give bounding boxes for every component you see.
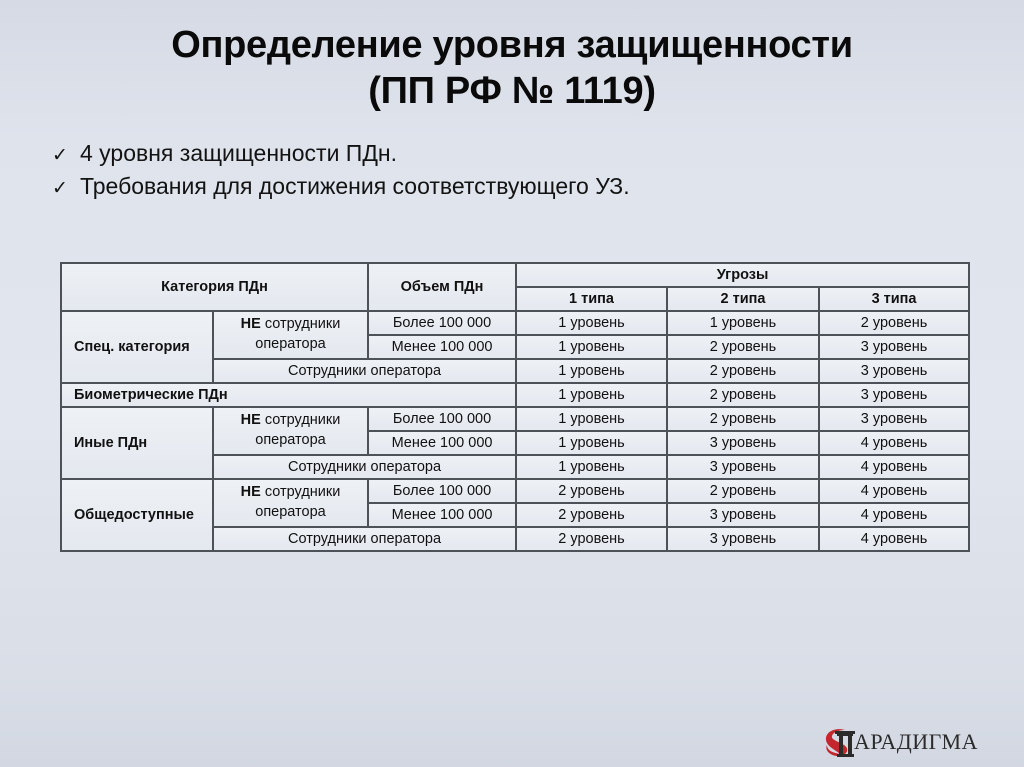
level-cell: 1 уровень: [516, 407, 667, 431]
level-cell: 3 уровень: [667, 527, 819, 551]
volume-less: Менее 100 000: [368, 335, 516, 359]
level-cell: 1 уровень: [667, 311, 819, 335]
volume-more: Более 100 000: [368, 311, 516, 335]
level-cell: 2 уровень: [667, 383, 819, 407]
subject-not-employees: НЕ сотрудники оператора: [213, 311, 368, 359]
level-cell: 4 уровень: [819, 431, 969, 455]
header-threat-type-2: 2 типа: [667, 287, 819, 311]
category-other: Иные ПДн: [61, 407, 213, 479]
list-item: ✓ Требования для достижения соответствую…: [52, 170, 1024, 203]
level-cell: 3 уровень: [667, 503, 819, 527]
volume-less: Менее 100 000: [368, 431, 516, 455]
level-cell: 1 уровень: [516, 311, 667, 335]
bullet-list: ✓ 4 уровня защищенности ПДн. ✓ Требовани…: [52, 137, 1024, 203]
volume-more: Более 100 000: [368, 479, 516, 503]
level-cell: 1 уровень: [516, 455, 667, 479]
level-cell: 3 уровень: [819, 335, 969, 359]
paradigma-gate-icon: [823, 726, 857, 758]
list-item: ✓ 4 уровня защищенности ПДн.: [52, 137, 1024, 170]
table-row: Иные ПДн НЕ сотрудники оператора Более 1…: [61, 407, 969, 431]
category-special: Спец. категория: [61, 311, 213, 383]
level-cell: 1 уровень: [516, 431, 667, 455]
level-cell: 3 уровень: [819, 359, 969, 383]
header-category: Категория ПДн: [61, 263, 368, 311]
level-cell: 2 уровень: [667, 479, 819, 503]
level-cell: 2 уровень: [516, 479, 667, 503]
title-line-2: (ПП РФ № 1119): [0, 68, 1024, 114]
level-cell: 2 уровень: [819, 311, 969, 335]
subject-not-employees: НЕ сотрудники оператора: [213, 407, 368, 455]
level-cell: 2 уровень: [667, 407, 819, 431]
not-employees-bold: НЕ: [241, 316, 261, 332]
level-cell: 2 уровень: [516, 527, 667, 551]
not-employees-bold: НЕ: [241, 412, 261, 428]
not-employees-rest: сотрудники оператора: [255, 316, 340, 352]
protection-levels-table: Категория ПДн Объем ПДн Угрозы 1 типа 2 …: [60, 262, 970, 552]
header-threats: Угрозы: [516, 263, 969, 287]
subject-employees: Сотрудники оператора: [213, 359, 516, 383]
table-row: Общедоступные НЕ сотрудники оператора Бо…: [61, 479, 969, 503]
level-cell: 4 уровень: [819, 527, 969, 551]
level-cell: 2 уровень: [667, 359, 819, 383]
table-row: Биометрические ПДн 1 уровень 2 уровень 3…: [61, 383, 969, 407]
subject-employees: Сотрудники оператора: [213, 527, 516, 551]
volume-less: Менее 100 000: [368, 503, 516, 527]
level-cell: 1 уровень: [516, 335, 667, 359]
bullet-text: Требования для достижения соответствующе…: [80, 170, 630, 203]
level-cell: 4 уровень: [819, 503, 969, 527]
category-public: Общедоступные: [61, 479, 213, 551]
bullet-text: 4 уровня защищенности ПДн.: [80, 137, 397, 170]
volume-more: Более 100 000: [368, 407, 516, 431]
header-threat-type-3: 3 типа: [819, 287, 969, 311]
not-employees-rest: сотрудники оператора: [255, 484, 340, 520]
logo-text: АРАДИГМА: [854, 729, 978, 755]
table-header-row: Категория ПДн Объем ПДн Угрозы: [61, 263, 969, 287]
page-title: Определение уровня защищенности (ПП РФ №…: [0, 0, 1024, 115]
protection-levels-table-wrap: Категория ПДн Объем ПДн Угрозы 1 типа 2 …: [60, 262, 968, 552]
not-employees-rest: сотрудники оператора: [255, 412, 340, 448]
header-volume: Объем ПДн: [368, 263, 516, 311]
header-threat-type-1: 1 типа: [516, 287, 667, 311]
level-cell: 1 уровень: [516, 383, 667, 407]
level-cell: 1 уровень: [516, 359, 667, 383]
subject-not-employees: НЕ сотрудники оператора: [213, 479, 368, 527]
level-cell: 3 уровень: [667, 431, 819, 455]
subject-employees: Сотрудники оператора: [213, 455, 516, 479]
level-cell: 3 уровень: [819, 383, 969, 407]
company-logo: АРАДИГМА: [823, 725, 978, 759]
checkmark-icon: ✓: [52, 176, 80, 203]
level-cell: 4 уровень: [819, 479, 969, 503]
level-cell: 3 уровень: [667, 455, 819, 479]
level-cell: 3 уровень: [819, 407, 969, 431]
title-line-1: Определение уровня защищенности: [0, 22, 1024, 68]
level-cell: 2 уровень: [667, 335, 819, 359]
table-row: Спец. категория НЕ сотрудники оператора …: [61, 311, 969, 335]
level-cell: 2 уровень: [516, 503, 667, 527]
not-employees-bold: НЕ: [241, 484, 261, 500]
category-biometric: Биометрические ПДн: [61, 383, 516, 407]
checkmark-icon: ✓: [52, 143, 80, 170]
level-cell: 4 уровень: [819, 455, 969, 479]
